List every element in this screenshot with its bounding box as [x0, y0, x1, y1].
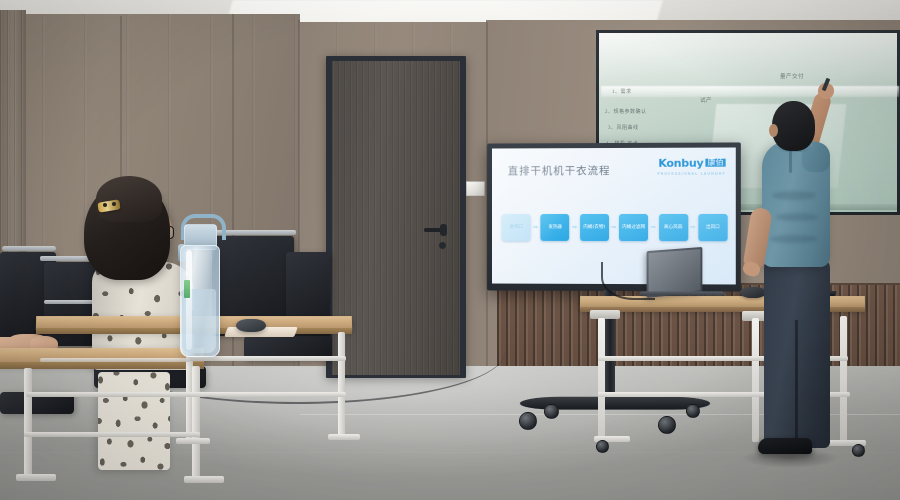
- door-lock[interactable]: [439, 242, 446, 249]
- brand-logo: Konbuy康佰 PROFESSIONAL LAUNDRY: [657, 155, 725, 177]
- table-foot: [16, 474, 56, 481]
- table-foot: [328, 434, 360, 440]
- shirt-fold: [776, 213, 818, 221]
- door-knob[interactable]: [440, 224, 447, 236]
- whiteboard-note-2: 2、规格参数确认: [605, 108, 647, 115]
- table-crossbar: [188, 392, 346, 397]
- light-switch[interactable]: [466, 181, 485, 196]
- hair-clip-bead: [112, 202, 116, 206]
- table-foot: [176, 438, 210, 444]
- whiteboard-note-1: 1、需求: [612, 88, 632, 95]
- caster-wheel: [852, 444, 865, 457]
- flow-arrow-icon: ⇨: [611, 224, 616, 231]
- presenter-head: [772, 101, 815, 151]
- mouse[interactable]: [236, 319, 266, 332]
- flow-arrow-icon: ⇨: [651, 224, 656, 231]
- logo-tagline: PROFESSIONAL LAUNDRY: [657, 173, 725, 177]
- table-leg: [840, 316, 847, 444]
- table-crossbar: [40, 358, 190, 362]
- presenter-trouser-seam: [795, 320, 798, 438]
- table-crossbar: [24, 432, 200, 437]
- caster-wheel: [544, 404, 559, 419]
- whiteboard-note-6: 量产交付: [780, 72, 804, 80]
- caster-wheel: [596, 440, 609, 453]
- flow-step-2: 发热器: [541, 214, 570, 241]
- meeting-room-photo: 1、需求2、规格参数确认3、风阻曲线4、样机 定点试产量产交付 直排干机机干衣流…: [0, 0, 900, 500]
- presenter-ear: [769, 124, 778, 137]
- table-leg: [598, 318, 605, 438]
- logo-wordmark: Konbuy: [658, 157, 703, 170]
- chair-frame: [2, 246, 56, 251]
- flow-arrow-icon: ⇨: [690, 224, 695, 231]
- table-hinge: [590, 310, 620, 319]
- laptop-keyboard[interactable]: [640, 291, 725, 295]
- table-crossbar: [26, 392, 198, 397]
- process-flow-diagram: 进风口⇨发热器⇨内桶(衣物)⇨内桶过滤网⇨离心风扇⇨出风口: [502, 214, 728, 241]
- whiteboard-note-5: 试产: [700, 96, 712, 104]
- table-foot: [184, 476, 224, 483]
- caster-wheel: [658, 416, 676, 434]
- bottle-label: [184, 280, 190, 298]
- mouse[interactable]: [740, 287, 766, 298]
- hair-clip-bead: [103, 203, 107, 207]
- whiteboard-reflection: [601, 86, 899, 97]
- bottle-highlight: [186, 250, 192, 350]
- caster-wheel: [519, 412, 537, 430]
- flow-step-6: 出风口: [698, 214, 727, 241]
- caster-wheel: [686, 404, 700, 418]
- flow-step-4: 内桶过滤网: [619, 214, 648, 241]
- table-leg: [338, 332, 345, 438]
- shirt-fold: [772, 191, 816, 200]
- presenter-shoe: [758, 438, 812, 454]
- slide-title: 直排干机机干衣流程: [508, 163, 611, 178]
- whiteboard-note-3: 3、风阻曲线: [608, 124, 639, 131]
- flow-arrow-icon: ⇨: [572, 224, 577, 231]
- table-leg: [192, 366, 200, 478]
- shirt-fold: [770, 235, 818, 243]
- laptop-screen[interactable]: [647, 247, 703, 298]
- flow-step-1: 进风口: [502, 214, 531, 241]
- flow-step-3: 内桶(衣物): [580, 214, 609, 241]
- table-leg: [24, 368, 32, 478]
- flow-arrow-icon: ⇨: [533, 224, 538, 231]
- logo-chinese: 康佰: [705, 159, 725, 167]
- table-leg: [752, 318, 759, 442]
- flow-step-5: 离心风扇: [659, 214, 688, 241]
- attendee-lower-garment: [98, 372, 170, 470]
- attendee-hair-top: [96, 176, 162, 222]
